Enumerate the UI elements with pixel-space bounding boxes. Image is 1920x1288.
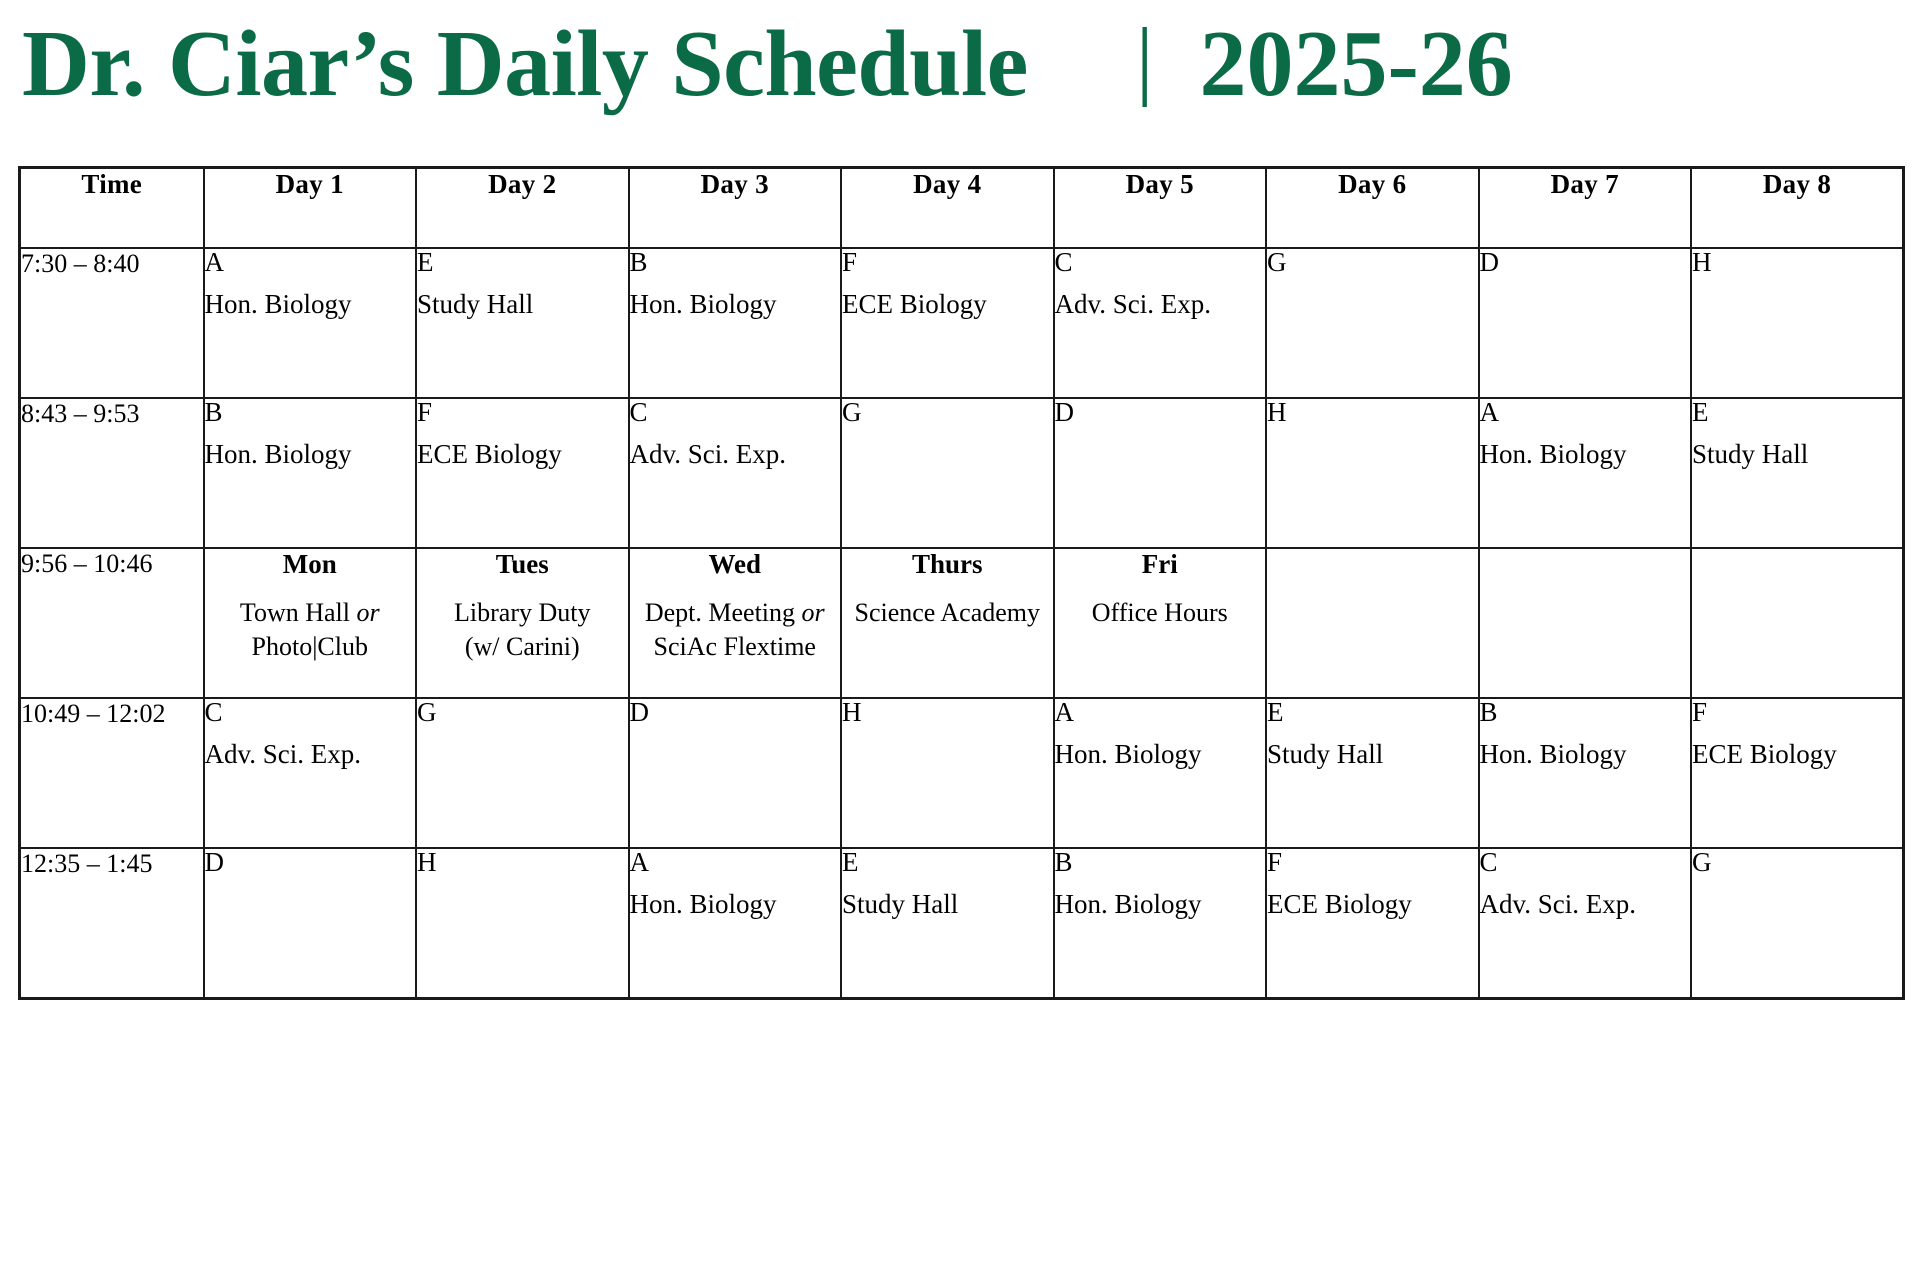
class-block-cell[interactable]: H <box>416 848 629 999</box>
page-title: Dr. Ciar’s Daily Schedule | 2025-26 <box>22 4 1902 124</box>
meeting-detail-line-1: Science Academy <box>842 596 1053 630</box>
block-letter: A <box>1055 699 1266 726</box>
course-name: Hon. Biology <box>205 290 416 320</box>
class-block-cell[interactable]: EStudy Hall <box>416 248 629 398</box>
table-header: TimeDay 1Day 2Day 3Day 4Day 5Day 6Day 7D… <box>20 168 1904 249</box>
schedule-table-container: TimeDay 1Day 2Day 3Day 4Day 5Day 6Day 7D… <box>18 166 1902 1000</box>
class-block-cell[interactable]: H <box>841 698 1054 848</box>
course-name: ECE Biology <box>417 440 628 470</box>
class-block-cell[interactable]: BHon. Biology <box>1479 698 1692 848</box>
class-block-cell[interactable]: BHon. Biology <box>204 398 417 548</box>
block-letter: G <box>417 699 628 726</box>
class-block-cell[interactable]: H <box>1266 398 1479 548</box>
block-letter: B <box>630 249 841 276</box>
meeting-cell[interactable] <box>1266 548 1479 698</box>
meeting-cell[interactable]: FriOffice Hours <box>1054 548 1267 698</box>
course-name: Adv. Sci. Exp. <box>1055 290 1266 320</box>
table-row: 9:56 – 10:46MonTown Hall orPhoto|ClubTue… <box>20 548 1904 698</box>
title-main-text: Dr. Ciar’s Daily Schedule <box>22 17 1028 111</box>
column-header-day-5: Day 5 <box>1054 168 1267 249</box>
block-letter: C <box>630 399 841 426</box>
block-letter: C <box>1055 249 1266 276</box>
block-letter: D <box>1480 249 1691 276</box>
time-slot-cell: 8:43 – 9:53 <box>20 398 204 548</box>
course-name: Adv. Sci. Exp. <box>1480 890 1691 920</box>
block-letter: D <box>1055 399 1266 426</box>
block-letter: E <box>842 849 1053 876</box>
meeting-cell[interactable]: TuesLibrary Duty(w/ Carini) <box>416 548 629 698</box>
meeting-weekday-label: Mon <box>205 549 416 580</box>
class-block-cell[interactable]: G <box>841 398 1054 548</box>
meeting-detail-text: Town Hall <box>240 598 357 627</box>
class-block-cell[interactable]: FECE Biology <box>1266 848 1479 999</box>
meeting-cell[interactable] <box>1479 548 1692 698</box>
block-letter: E <box>1692 399 1902 426</box>
block-letter: C <box>1480 849 1691 876</box>
block-letter: A <box>1480 399 1691 426</box>
course-name: ECE Biology <box>1692 740 1902 770</box>
meeting-weekday-label: Fri <box>1055 549 1266 580</box>
class-block-cell[interactable]: D <box>1054 398 1267 548</box>
column-header-time: Time <box>20 168 204 249</box>
table-body: 7:30 – 8:40AHon. BiologyEStudy HallBHon.… <box>20 248 1904 999</box>
table-row: 12:35 – 1:45DHAHon. BiologyEStudy HallBH… <box>20 848 1904 999</box>
class-block-cell[interactable]: G <box>1266 248 1479 398</box>
title-separator: | <box>1136 16 1154 104</box>
meeting-detail-text: Library Duty <box>454 598 590 627</box>
block-letter: A <box>205 249 416 276</box>
column-header-day-4: Day 4 <box>841 168 1054 249</box>
block-letter: G <box>1267 249 1478 276</box>
class-block-cell[interactable]: AHon. Biology <box>1054 698 1267 848</box>
meeting-detail-text: Science Academy <box>854 598 1040 627</box>
meeting-or-conjunction: or <box>802 598 825 627</box>
meeting-detail-line-2: SciAc Flextime <box>630 630 841 664</box>
class-block-cell[interactable]: EStudy Hall <box>1691 398 1904 548</box>
block-letter: H <box>1267 399 1478 426</box>
meeting-weekday-label: Tues <box>417 549 628 580</box>
block-letter: F <box>1692 699 1902 726</box>
meeting-detail-line-1: Town Hall or <box>205 596 416 630</box>
class-block-cell[interactable]: AHon. Biology <box>629 848 842 999</box>
block-letter: E <box>1267 699 1478 726</box>
course-name: Hon. Biology <box>205 440 416 470</box>
table-row: 8:43 – 9:53BHon. BiologyFECE BiologyCAdv… <box>20 398 1904 548</box>
meeting-detail-line-1: Dept. Meeting or <box>630 596 841 630</box>
meeting-detail-line-2: (w/ Carini) <box>417 630 628 664</box>
course-name: Hon. Biology <box>1480 440 1691 470</box>
class-block-cell[interactable]: EStudy Hall <box>1266 698 1479 848</box>
class-block-cell[interactable]: CAdv. Sci. Exp. <box>204 698 417 848</box>
course-name: Study Hall <box>842 890 1053 920</box>
meeting-or-conjunction: or <box>356 598 379 627</box>
meeting-detail-line-1: Office Hours <box>1055 596 1266 630</box>
block-letter: H <box>842 699 1053 726</box>
class-block-cell[interactable]: CAdv. Sci. Exp. <box>1479 848 1692 999</box>
block-letter: F <box>417 399 628 426</box>
meeting-weekday-label: Wed <box>630 549 841 580</box>
class-block-cell[interactable]: CAdv. Sci. Exp. <box>629 398 842 548</box>
time-slot-cell: 9:56 – 10:46 <box>20 548 204 698</box>
class-block-cell[interactable]: AHon. Biology <box>1479 398 1692 548</box>
class-block-cell[interactable]: BHon. Biology <box>1054 848 1267 999</box>
class-block-cell[interactable]: CAdv. Sci. Exp. <box>1054 248 1267 398</box>
meeting-cell[interactable] <box>1691 548 1904 698</box>
time-slot-cell: 10:49 – 12:02 <box>20 698 204 848</box>
class-block-cell[interactable]: FECE Biology <box>1691 698 1904 848</box>
block-letter: G <box>842 399 1053 426</box>
course-name: Hon. Biology <box>630 290 841 320</box>
block-letter: B <box>205 399 416 426</box>
header-row: TimeDay 1Day 2Day 3Day 4Day 5Day 6Day 7D… <box>20 168 1904 249</box>
schedule-page: Dr. Ciar’s Daily Schedule | 2025-26 Time… <box>0 0 1920 1288</box>
column-header-day-8: Day 8 <box>1691 168 1904 249</box>
class-block-cell[interactable]: G <box>416 698 629 848</box>
block-letter: D <box>630 699 841 726</box>
column-header-day-2: Day 2 <box>416 168 629 249</box>
class-block-cell[interactable]: AHon. Biology <box>204 248 417 398</box>
course-name: Hon. Biology <box>1055 890 1266 920</box>
schedule-table: TimeDay 1Day 2Day 3Day 4Day 5Day 6Day 7D… <box>18 166 1905 1000</box>
block-letter: C <box>205 699 416 726</box>
block-letter: F <box>842 249 1053 276</box>
block-letter: A <box>630 849 841 876</box>
meeting-cell[interactable]: ThursScience Academy <box>841 548 1054 698</box>
table-row: 7:30 – 8:40AHon. BiologyEStudy HallBHon.… <box>20 248 1904 398</box>
course-name: Study Hall <box>1267 740 1478 770</box>
course-name: Hon. Biology <box>1055 740 1266 770</box>
class-block-cell[interactable]: FECE Biology <box>841 248 1054 398</box>
time-slot-cell: 12:35 – 1:45 <box>20 848 204 999</box>
class-block-cell[interactable]: H <box>1691 248 1904 398</box>
course-name: ECE Biology <box>1267 890 1478 920</box>
class-block-cell[interactable]: D <box>629 698 842 848</box>
block-letter: B <box>1055 849 1266 876</box>
class-block-cell[interactable]: D <box>204 848 417 999</box>
course-name: ECE Biology <box>842 290 1053 320</box>
meeting-cell[interactable]: MonTown Hall orPhoto|Club <box>204 548 417 698</box>
course-name: Adv. Sci. Exp. <box>205 740 416 770</box>
column-header-day-7: Day 7 <box>1479 168 1692 249</box>
course-name: Study Hall <box>417 290 628 320</box>
block-letter: H <box>1692 249 1902 276</box>
class-block-cell[interactable]: EStudy Hall <box>841 848 1054 999</box>
course-name: Hon. Biology <box>630 890 841 920</box>
table-row: 10:49 – 12:02CAdv. Sci. Exp.GDHAHon. Bio… <box>20 698 1904 848</box>
block-letter: B <box>1480 699 1691 726</box>
title-year-text: 2025-26 <box>1199 17 1512 111</box>
block-letter: F <box>1267 849 1478 876</box>
course-name: Adv. Sci. Exp. <box>630 440 841 470</box>
meeting-weekday-label: Thurs <box>842 549 1053 580</box>
meeting-cell[interactable]: WedDept. Meeting orSciAc Flextime <box>629 548 842 698</box>
block-letter: D <box>205 849 416 876</box>
course-name: Hon. Biology <box>1480 740 1691 770</box>
meeting-detail-text: Dept. Meeting <box>645 598 802 627</box>
block-letter: H <box>417 849 628 876</box>
meeting-detail-text: Office Hours <box>1092 598 1228 627</box>
column-header-day-3: Day 3 <box>629 168 842 249</box>
meeting-detail-line-2: Photo|Club <box>205 630 416 664</box>
class-block-cell[interactable]: FECE Biology <box>416 398 629 548</box>
column-header-day-6: Day 6 <box>1266 168 1479 249</box>
block-letter: G <box>1692 849 1902 876</box>
class-block-cell[interactable]: D <box>1479 248 1692 398</box>
class-block-cell[interactable]: BHon. Biology <box>629 248 842 398</box>
course-name: Study Hall <box>1692 440 1902 470</box>
class-block-cell[interactable]: G <box>1691 848 1904 999</box>
block-letter: E <box>417 249 628 276</box>
meeting-detail-line-1: Library Duty <box>417 596 628 630</box>
time-slot-cell: 7:30 – 8:40 <box>20 248 204 398</box>
column-header-day-1: Day 1 <box>204 168 417 249</box>
